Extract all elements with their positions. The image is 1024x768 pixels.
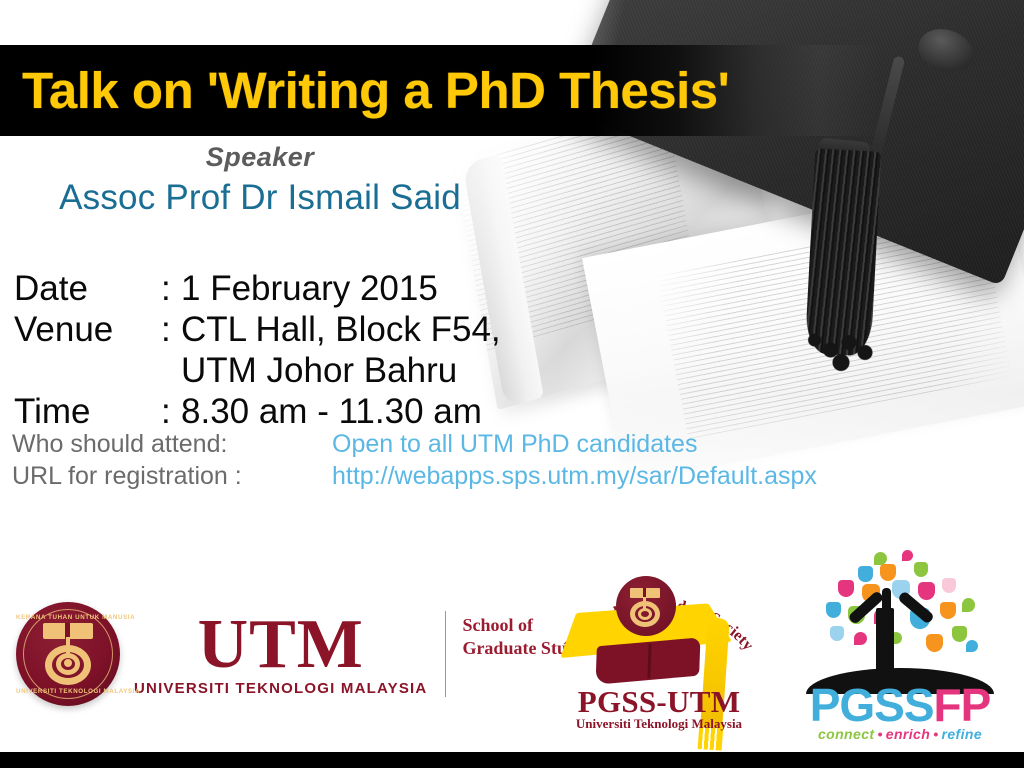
pgss-name: PGSS-UTM <box>544 684 774 720</box>
utm-crest-emblem <box>37 623 99 685</box>
event-poster: Talk on 'Writing a PhD Thesis' Speaker A… <box>0 0 1024 768</box>
speaker-name: Assoc Prof Dr Ismail Said <box>0 178 520 218</box>
detail-sep-time: : <box>161 391 181 432</box>
detail-value-time: 8.30 am - 11.30 am <box>181 391 501 432</box>
canopy-leaf <box>902 550 913 561</box>
title-band: Talk on 'Writing a PhD Thesis' <box>0 45 1024 136</box>
tagline-connect: connect <box>818 726 874 742</box>
page-title: Talk on 'Writing a PhD Thesis' <box>0 61 729 120</box>
event-details: Date : 1 February 2015 Venue : CTL Hall,… <box>14 268 501 432</box>
pgss-subtitle: Universiti Teknologi Malaysia <box>544 716 774 732</box>
registration-url-link[interactable]: http://webapps.sps.utm.my/sar/Default.as… <box>332 460 817 492</box>
speaker-block: Speaker Assoc Prof Dr Ismail Said <box>0 142 520 218</box>
canopy-leaf <box>838 580 854 597</box>
utm-wordmark-subtitle: UNIVERSITI TEKNOLOGI MALAYSIA <box>134 680 427 697</box>
pgss-crest-inner-ring <box>638 608 652 620</box>
canopy-leaf <box>880 564 896 581</box>
tagline-dot-2: • <box>930 726 941 742</box>
detail-row-venue: Venue : CTL Hall, Block F54, <box>14 309 501 350</box>
detail-sep-venue: : <box>161 309 181 350</box>
pgssfp-logo: PGSSFP connect•enrich•refine <box>800 550 1000 745</box>
detail-row-venue-continued: UTM Johor Bahru <box>14 350 501 391</box>
canopy-leaf <box>826 602 841 618</box>
detail-sep-date: : <box>161 268 181 309</box>
canopy-leaf <box>942 578 956 593</box>
utm-logo: KERANA TUHAN UNTUK MANUSIA UNIVERSITI TE… <box>16 602 597 706</box>
utm-crest-center-dot <box>64 659 72 667</box>
detail-key-time: Time <box>14 391 161 432</box>
pgss-utm-logo: Postgraduate Student Society PGSS-UTM Un… <box>544 546 774 746</box>
tassel-knot <box>817 137 872 172</box>
note-key-registration-url: URL for registration : <box>12 460 332 492</box>
detail-row-time: Time : 8.30 am - 11.30 am <box>14 391 501 432</box>
utm-crest-motto-top: KERANA TUHAN UNTUK MANUSIA <box>16 614 120 621</box>
pgssfp-word-secondary: FP <box>934 679 991 731</box>
utm-crest-motto-bottom: UNIVERSITI TEKNOLOGI MALAYSIA <box>16 688 120 695</box>
bottom-black-strip <box>0 752 1024 768</box>
detail-row-date: Date : 1 February 2015 <box>14 268 501 309</box>
note-key-audience: Who should attend: <box>12 428 332 460</box>
tree-trunk-icon <box>876 608 894 676</box>
speaker-label: Speaker <box>0 142 520 173</box>
utm-divider <box>445 611 446 697</box>
canopy-leaf <box>914 562 928 577</box>
canopy-leaf <box>830 626 844 641</box>
detail-key-date: Date <box>14 268 161 309</box>
book-text-lines-right <box>656 209 1012 439</box>
canopy-leaf <box>854 632 867 645</box>
mortarboard-icon <box>565 0 1024 286</box>
canopy-leaf <box>962 598 975 612</box>
canopy-leaf <box>940 602 956 619</box>
note-value-audience: Open to all UTM PhD candidates <box>332 428 697 460</box>
canopy-leaf <box>966 640 978 652</box>
pgssfp-tree-canopy-icon <box>814 550 986 662</box>
tagline-dot-1: • <box>874 726 885 742</box>
detail-value-venue: CTL Hall, Block F54, <box>181 309 501 350</box>
note-row-registration-url: URL for registration : http://webapps.sp… <box>12 460 817 492</box>
canopy-leaf <box>952 626 967 642</box>
logo-strip: KERANA TUHAN UNTUK MANUSIA UNIVERSITI TE… <box>0 540 1024 752</box>
pgss-utm-crest-icon <box>616 576 676 636</box>
tassel-icon <box>805 148 882 356</box>
note-row-audience: Who should attend: Open to all UTM PhD c… <box>12 428 817 460</box>
utm-wordmark: UTM <box>134 612 427 678</box>
tagline-enrich: enrich <box>886 726 930 742</box>
detail-key-venue: Venue <box>14 309 161 350</box>
tagline-refine: refine <box>942 726 983 742</box>
pgssfp-word-primary: PGSS <box>810 679 934 731</box>
detail-value-venue-cont: UTM Johor Bahru <box>181 350 501 391</box>
canopy-leaf <box>926 634 943 652</box>
detail-value-date: 1 February 2015 <box>181 268 501 309</box>
pgssfp-wordmark: PGSSFP <box>800 682 1000 728</box>
pgssfp-tagline: connect•enrich•refine <box>800 726 1000 742</box>
canopy-leaf <box>918 582 935 600</box>
canopy-leaf <box>858 566 873 582</box>
event-notes: Who should attend: Open to all UTM PhD c… <box>12 428 817 492</box>
tassel-fringe <box>805 330 885 380</box>
utm-crest-icon: KERANA TUHAN UNTUK MANUSIA UNIVERSITI TE… <box>16 602 120 706</box>
utm-wordmark-block: UTM UNIVERSITI TEKNOLOGI MALAYSIA <box>134 612 427 697</box>
